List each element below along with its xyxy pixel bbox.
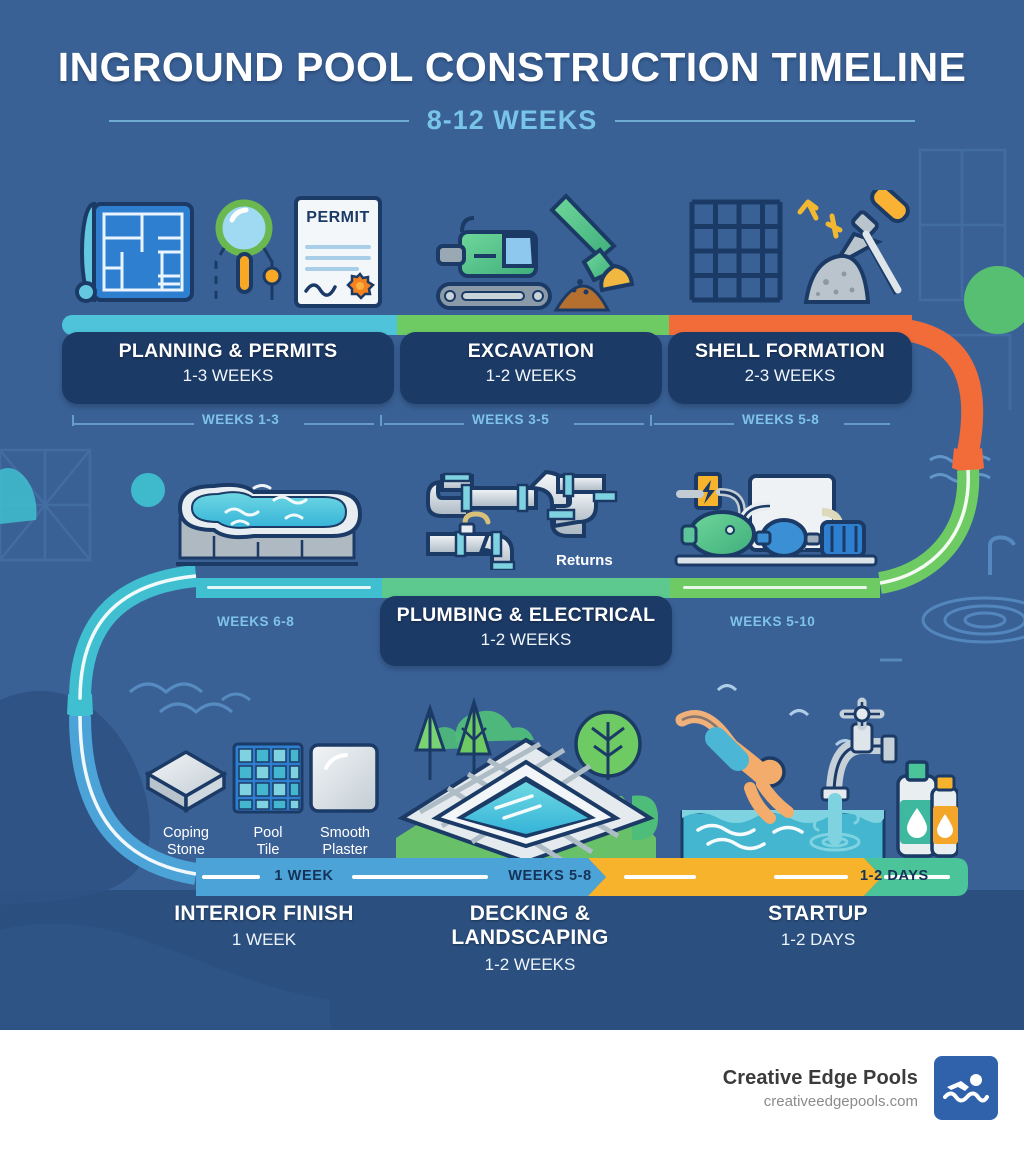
footer-bar: Creative Edge Pools creativeedgepools.co… [0, 1030, 1024, 1154]
returns-label: Returns [556, 552, 613, 569]
phase-duration: 1-3 WEEKS [62, 366, 394, 386]
phase-caption-startup[interactable]: STARTUP 1-2 DAYS [690, 902, 946, 950]
brand-text: Creative Edge Pools creativeedgepools.co… [723, 1067, 918, 1110]
rail-line [574, 423, 644, 425]
phase-name: STARTUP [690, 902, 946, 926]
rail-label-excavation: WEEKS 3-5 [472, 412, 549, 427]
phase-caption-decking[interactable]: DECKING & LANDSCAPING 1-2 WEEKS [408, 902, 652, 975]
brand-logo-badge[interactable] [934, 1056, 998, 1120]
phase-name: PLANNING & PERMITS [62, 341, 394, 363]
rebar-grid-icon [686, 196, 786, 306]
chevron-label: 1-2 DAYS [860, 868, 929, 884]
phase-name: INTERIOR FINISH [124, 902, 404, 926]
phase-caption-interior[interactable]: INTERIOR FINISH 1 WEEK [124, 902, 404, 950]
subtitle-rule-right [615, 120, 915, 122]
infographic-canvas: INGROUND POOL CONSTRUCTION TIMELINE 8-12… [0, 0, 1024, 1154]
rail-line [384, 423, 464, 425]
phase-duration: 1 WEEK [124, 930, 404, 950]
rail-line [654, 423, 734, 425]
phase-duration: 1-2 WEEKS [408, 955, 652, 975]
subtitle-rule-left [109, 120, 409, 122]
rail-tick [650, 415, 652, 426]
chevron-label: WEEKS 5-8 [508, 868, 592, 884]
page-title: INGROUND POOL CONSTRUCTION TIMELINE [0, 44, 1024, 91]
phase-duration: 2-3 WEEKS [668, 366, 912, 386]
pool-equipment-icon [672, 464, 898, 574]
material-label-plaster: Smooth Plaster [298, 825, 392, 860]
week-rail-row1: WEEKS 1-3 WEEKS 3-5 WEEKS 5-8 [62, 412, 912, 434]
smooth-plaster-icon [308, 742, 380, 814]
phase-plate-excavation[interactable]: EXCAVATION 1-2 WEEKS [400, 332, 662, 404]
pool-tile-icon [232, 742, 304, 814]
rail-label-interior: WEEKS 6-8 [217, 614, 294, 629]
rail-label-shell: WEEKS 5-8 [742, 412, 819, 427]
brand-block: Creative Edge Pools creativeedgepools.co… [723, 1056, 998, 1120]
flow-bar-equipment [670, 578, 880, 598]
permit-document-icon: PERMIT [293, 195, 383, 310]
magnifier-inspection-icon [212, 196, 282, 308]
phase-name: DECKING & LANDSCAPING [408, 902, 652, 951]
chevron-label: 1 WEEK [274, 868, 333, 884]
swimmer-icon [943, 1071, 989, 1105]
phase-name: SHELL FORMATION [668, 341, 912, 363]
pool-shell-icon [162, 466, 372, 578]
decking-landscaping-icon [392, 688, 660, 866]
material-line1: Coping [140, 825, 232, 842]
chevron-label-decking: WEEKS 5-8 [412, 858, 688, 894]
phase-plate-shell[interactable]: SHELL FORMATION 2-3 WEEKS [668, 332, 912, 404]
startup-pool-icon [664, 692, 958, 872]
brand-name: Creative Edge Pools [723, 1067, 918, 1090]
phase-duration: 1-2 WEEKS [400, 366, 662, 386]
poster-body: INGROUND POOL CONSTRUCTION TIMELINE 8-12… [0, 0, 1024, 1030]
rail-line [304, 423, 374, 425]
phase-duration: 1-2 DAYS [690, 930, 946, 950]
phase-plate-planning[interactable]: PLANNING & PERMITS 1-3 WEEKS [62, 332, 394, 404]
rail-line [74, 423, 194, 425]
rail-label-planning: WEEKS 1-3 [202, 412, 279, 427]
flow-bar-interior-return [196, 578, 382, 598]
brand-url[interactable]: creativeedgepools.com [723, 1093, 918, 1110]
rail-label-equipment: WEEKS 5-10 [730, 614, 815, 629]
material-line1: Smooth [298, 825, 392, 842]
chevron-label-interior: 1 WEEK [196, 858, 412, 894]
gunite-sprayer-icon [792, 190, 920, 312]
subtitle-row: 8-12 WEEKS [0, 105, 1024, 136]
rail-tick [380, 415, 382, 426]
week-rail-row2: WEEKS 6-8 WEEKS 5-10 [62, 614, 942, 636]
rail-line [844, 423, 890, 425]
chevron-label-startup: 1-2 DAYS [860, 858, 964, 894]
phase-name: EXCAVATION [400, 341, 662, 363]
flow-bar-plumbing [382, 578, 670, 598]
coping-stone-icon [144, 748, 228, 814]
blueprint-icon [68, 192, 198, 310]
permit-label: PERMIT [293, 209, 383, 227]
material-label-coping: Coping Stone [140, 825, 232, 860]
excavator-icon [418, 188, 638, 316]
subtitle: 8-12 WEEKS [427, 105, 598, 136]
